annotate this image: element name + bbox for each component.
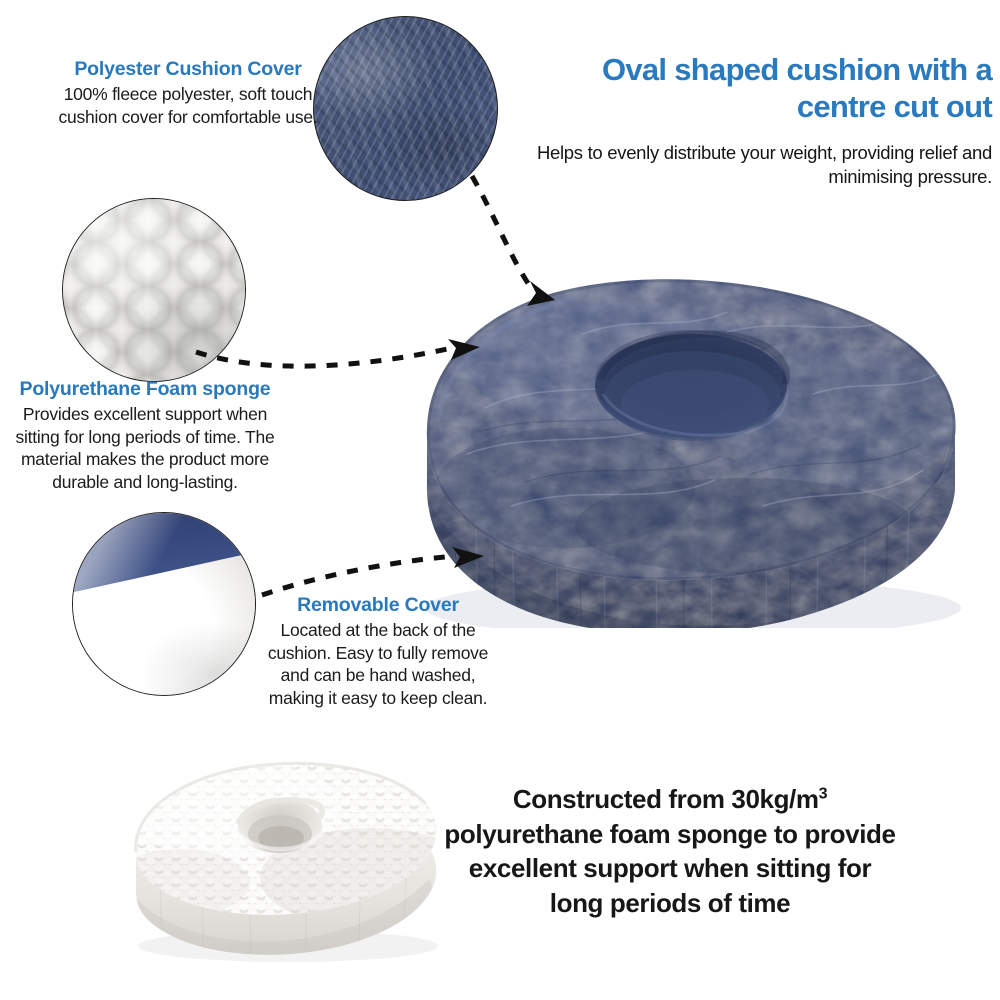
callout-body-removable: Located at the back of the cushion. Easy…	[258, 619, 498, 709]
headline-subtitle: Helps to evenly distribute your weight, …	[480, 141, 992, 189]
hero-cushion-image	[415, 268, 970, 628]
headline-title-line1: Oval shaped cushion with a	[602, 52, 992, 87]
callout-removable-cover: Removable Cover Located at the back of t…	[258, 594, 498, 709]
headline-title-line2: centre cut out	[797, 89, 992, 124]
callout-polyester-cushion-cover: Polyester Cushion Cover 100% fleece poly…	[58, 58, 318, 128]
callout-title-foam: Polyurethane Foam sponge	[4, 378, 286, 400]
bottom-statement: Constructed from 30kg/m3 polyurethane fo…	[440, 782, 900, 920]
eggcrate-texture-shadow	[62, 198, 246, 382]
inset-photo-foam-sponge	[62, 198, 246, 382]
inset-photo-removable-cover	[72, 512, 256, 696]
callout-body-foam: Provides excellent support when sitting …	[4, 403, 286, 493]
callout-body-polyester: 100% fleece polyester, soft touch cushio…	[58, 83, 318, 128]
bottom-statement-line1: Constructed from 30kg/m	[513, 784, 819, 814]
headline-title: Oval shaped cushion with a centre cut ou…	[480, 52, 992, 125]
fleece-texture	[313, 16, 498, 201]
inset-photo-polyester-fleece	[313, 16, 498, 201]
callout-polyurethane-foam-sponge: Polyurethane Foam sponge Provides excell…	[4, 378, 286, 493]
callout-title-polyester: Polyester Cushion Cover	[58, 58, 318, 80]
callout-title-removable: Removable Cover	[258, 594, 498, 616]
headline-block: Oval shaped cushion with a centre cut ou…	[480, 52, 992, 189]
foam-ring-cushion-image	[120, 748, 450, 963]
bottom-statement-line2: polyurethane foam sponge to provide exce…	[444, 819, 895, 918]
bottom-statement-superscript: 3	[819, 784, 828, 802]
infographic-page: Polyester Cushion Cover 100% fleece poly…	[0, 0, 1000, 1000]
